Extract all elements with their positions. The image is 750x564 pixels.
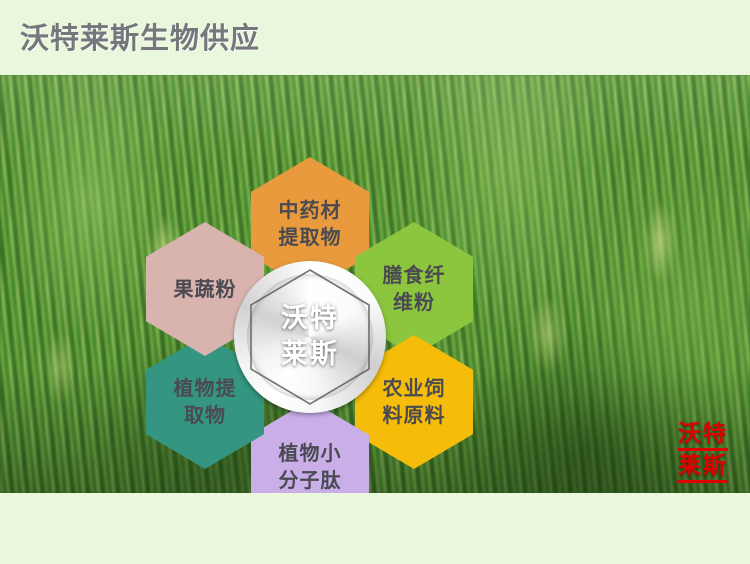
hex-tcm-extract-label: 中药材 提取物 [279,197,342,251]
center-brand-label: 沃特 莱斯 [249,269,371,405]
hex-plant-extract-label: 植物提 取物 [174,375,237,429]
page-root: 沃特莱斯生物供应 中药材 提取物 膳食纤 维粉 农业饲 料原料 植物小 分子肽 … [0,0,750,564]
hex-dietary-fiber-powder-label: 膳食纤 维粉 [383,262,446,316]
hexagon-cluster: 中药材 提取物 膳食纤 维粉 农业饲 料原料 植物小 分子肽 植物提 取物 果蔬… [130,153,490,493]
brand-logo-line-1: 沃特 [678,421,728,451]
hero-banner: 中药材 提取物 膳食纤 维粉 农业饲 料原料 植物小 分子肽 植物提 取物 果蔬… [0,75,750,493]
brand-logo[interactable]: 沃特 莱斯 [678,421,728,485]
header-band: 沃特莱斯生物供应 [0,0,750,75]
brand-logo-line-2: 莱斯 [678,453,728,483]
page-title: 沃特莱斯生物供应 [20,20,260,56]
hex-fruit-vegetable-powder-label: 果蔬粉 [174,276,237,303]
hex-plant-peptide-label: 植物小 分子肽 [279,440,342,493]
hex-plant-peptide[interactable]: 植物小 分子肽 [251,400,369,493]
hex-agricultural-feed-material-label: 农业饲 料原料 [383,375,446,429]
footer-band [0,493,750,564]
